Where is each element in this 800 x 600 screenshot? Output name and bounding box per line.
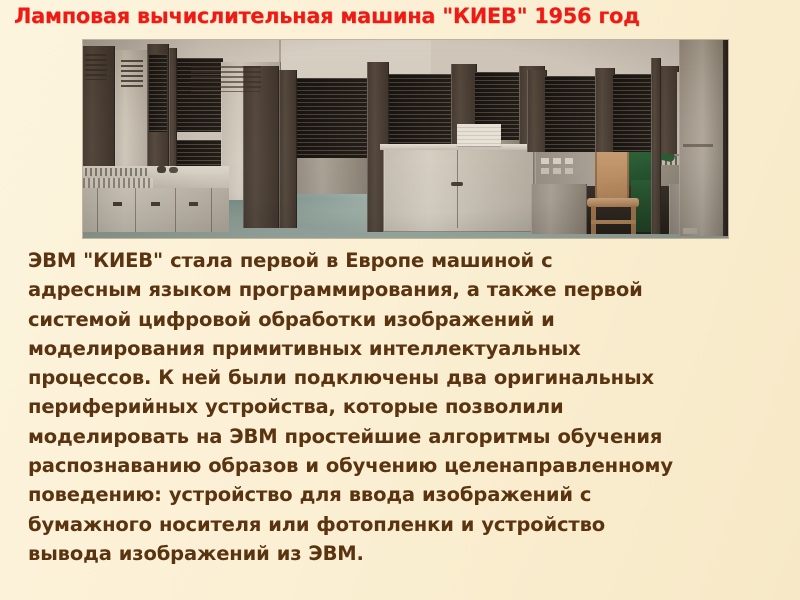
photo-drawer-handle <box>189 202 198 206</box>
body-line: распознаванию образов и обучению целенап… <box>28 454 673 477</box>
photo-cabinet-vent <box>121 60 143 90</box>
photo-drawer-seam <box>211 188 212 232</box>
photo-tube-rack <box>545 76 597 152</box>
photo-console-knob <box>157 166 166 173</box>
photo-console-switch <box>541 158 549 164</box>
body-line: периферийных устройства, которые позволи… <box>28 395 563 418</box>
body-line: моделирования примитивных интеллектуальн… <box>28 337 581 360</box>
body-line: процессов. К ней были подключены два ори… <box>28 366 654 389</box>
slide-canvas: Ламповая вычислительная машина "КИЕВ" 19… <box>0 0 800 600</box>
body-line: моделировать на ЭВМ простейшие алгоритмы… <box>28 425 662 448</box>
photo-console-switch <box>565 158 573 164</box>
slide-title: Ламповая вычислительная машина "КИЕВ" 19… <box>14 2 778 30</box>
photo-drawer-seam <box>135 188 136 232</box>
photo-drawer-seam <box>97 188 98 232</box>
photo-drawer-seam <box>175 188 176 232</box>
photo-cabinet-dark <box>595 68 615 152</box>
photo-center-cabinet-seam <box>457 150 458 228</box>
photo-paper-sheet <box>457 124 501 146</box>
photo-console-switch <box>565 168 573 174</box>
body-line: системой цифровой обработки изображений … <box>28 308 555 331</box>
photo-cabinet-right-handle <box>683 144 713 147</box>
photo-cabinet-right-edge <box>723 40 728 236</box>
photo-center-cabinet <box>383 146 535 232</box>
photo-chair-rail <box>591 220 636 224</box>
photo-console-switch <box>553 158 561 164</box>
photo-tube-rack <box>149 54 167 132</box>
photo-console-knob <box>169 167 178 173</box>
photo-cabinet-vent <box>85 54 107 80</box>
photo-drawer-handle <box>113 202 122 206</box>
photo-cabinet-dark <box>527 70 547 152</box>
photo-console-panel <box>85 168 147 176</box>
body-line: адресным языком программирования, а такж… <box>28 278 643 301</box>
photo-cabinet-dark <box>279 70 297 228</box>
photo-center-cabinet-handle <box>451 182 463 186</box>
photo-chair-back <box>595 144 629 200</box>
body-line: ЭВМ "КИЕВ" стала первой в Европе машиной… <box>28 249 553 272</box>
photo-drawer-handle <box>151 202 160 206</box>
photo-cabinet-right-tall <box>679 40 728 236</box>
photo-console-pedestal <box>531 184 587 234</box>
body-line: вывода изображений из ЭВМ. <box>28 542 364 565</box>
photo-cabinet-right-foot <box>683 228 697 234</box>
photo-tube-rack <box>297 78 369 160</box>
photo-cabinet-vent <box>191 66 261 92</box>
photo-cabinet-dark <box>651 58 661 234</box>
body-line: поведению: устройство для ввода изображе… <box>28 483 591 506</box>
photo-console-switch <box>541 168 549 174</box>
photo-console-switch <box>553 168 561 174</box>
photo-console-panel <box>83 178 153 188</box>
photo-cabinet-mid <box>297 158 369 194</box>
photo-drawer-unit <box>83 188 229 232</box>
body-line: бумажного носителя или фотопленки и устр… <box>28 513 605 536</box>
slide-body-text: ЭВМ "КИЕВ" стала первой в Европе машиной… <box>28 246 788 568</box>
machine-room-photo <box>83 40 728 238</box>
